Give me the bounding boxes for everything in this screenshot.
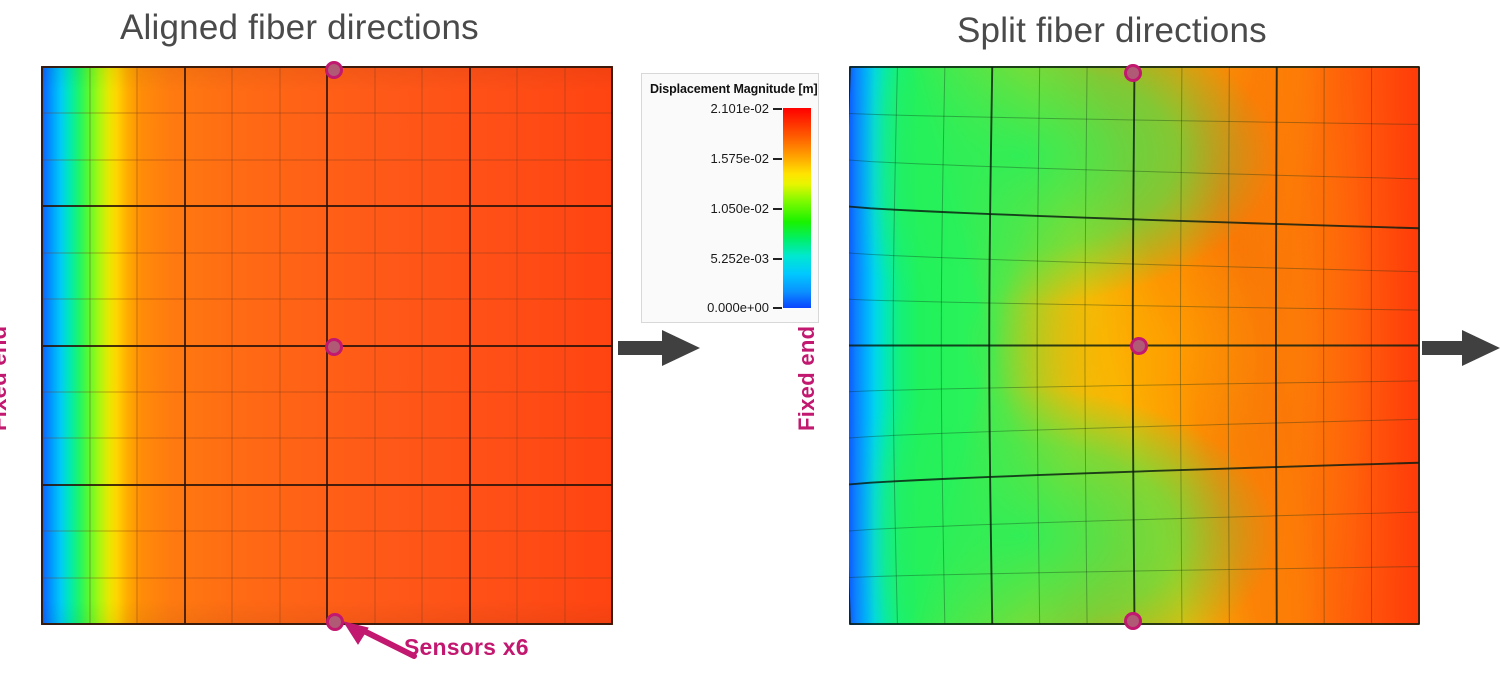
colorbar-tick-label-0: 2.101e-02 xyxy=(710,101,769,116)
colorbar-tick-mark-2 xyxy=(773,208,782,210)
load-arrow-icon xyxy=(1422,330,1500,366)
sensor-marker[interactable] xyxy=(1124,64,1142,82)
fixed-end-label-left: Fixed end xyxy=(0,326,12,431)
colorbar-tick-label-1: 1.575e-02 xyxy=(710,151,769,166)
colorbar-tick-mark-4 xyxy=(773,307,782,309)
sensor-marker[interactable] xyxy=(1130,337,1148,355)
colorbar-legend: Displacement Magnitude [m] 2.101e-02 1.5… xyxy=(641,73,819,323)
sensor-marker[interactable] xyxy=(325,338,343,356)
fixed-end-label-right: Fixed end xyxy=(794,326,820,431)
colorbar-tick-label-3: 5.252e-03 xyxy=(710,251,769,266)
sensor-marker[interactable] xyxy=(1124,612,1142,630)
colorbar-tick-mark-0 xyxy=(773,108,782,110)
colorbar-tick-mark-1 xyxy=(773,158,782,160)
load-arrow-icon xyxy=(618,330,700,366)
colorbar-gradient xyxy=(783,108,811,308)
colorbar-tick-label-4: 0.000e+00 xyxy=(707,300,769,315)
colorbar-tick-mark-3 xyxy=(773,258,782,260)
page-title-right: Split fiber directions xyxy=(957,11,1267,51)
colorbar-tick-label-2: 1.050e-02 xyxy=(710,201,769,216)
figure-canvas: Aligned fiber directions Split fiber dir… xyxy=(0,0,1500,679)
sensor-marker[interactable] xyxy=(325,61,343,79)
page-title-left: Aligned fiber directions xyxy=(120,8,479,48)
colorbar-title: Displacement Magnitude [m] xyxy=(650,82,818,96)
sensors-callout-label: Sensors x6 xyxy=(404,634,529,661)
